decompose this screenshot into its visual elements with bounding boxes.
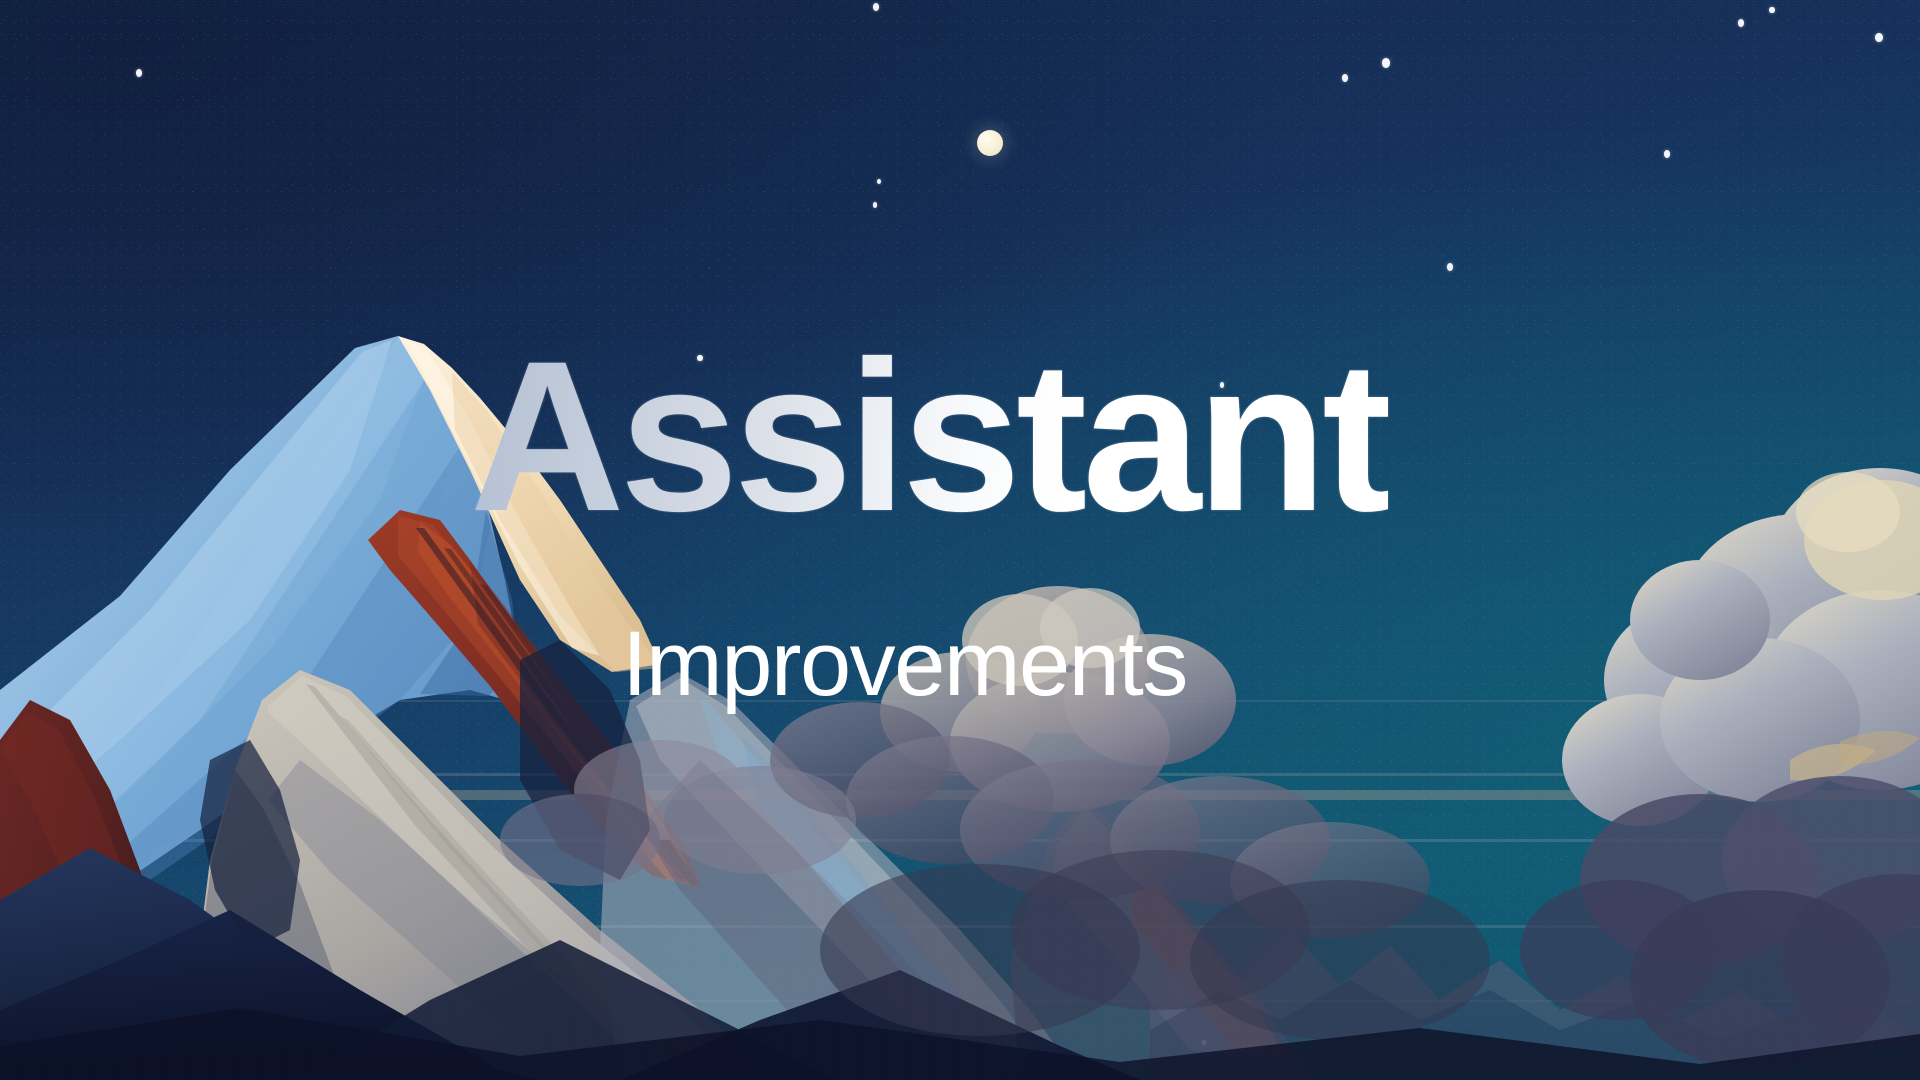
cloud-bank-centre <box>770 586 1490 1040</box>
mountain-scenery <box>0 0 1920 1080</box>
cloud-cumulus-right <box>1520 468 1920 1070</box>
hero-banner: Assistant Improvements <box>0 0 1920 1080</box>
